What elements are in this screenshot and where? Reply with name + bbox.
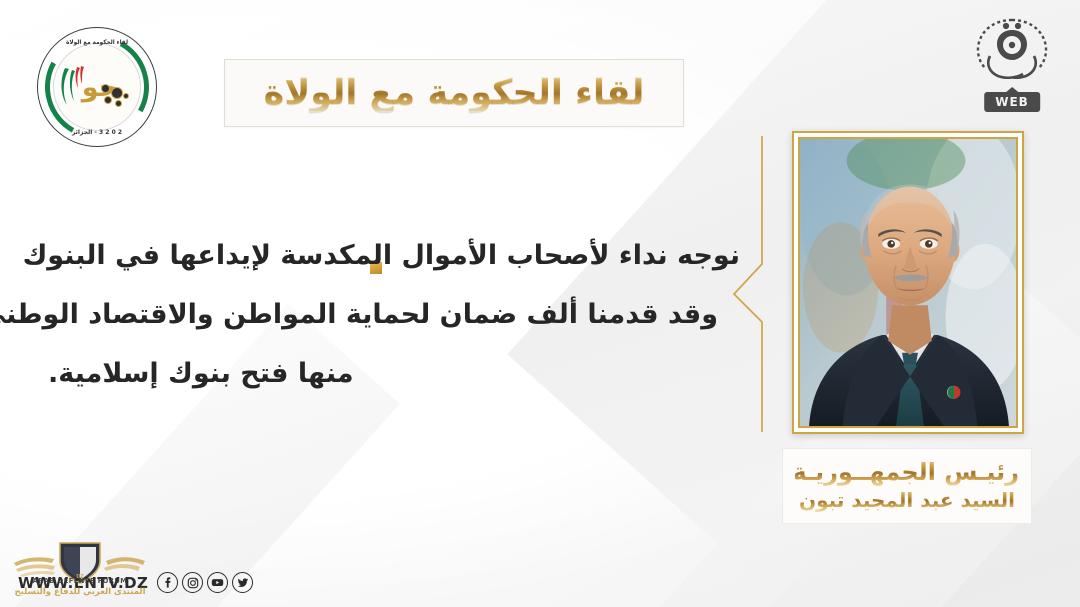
quote-block: نوجه نداء لأصحاب الأموال المكدسة لإيداعه… — [48, 242, 740, 387]
caption-box: رئيـس الجمهــوريـة السيد عبد المجيد تبون — [782, 448, 1032, 524]
portrait-image — [800, 139, 1016, 426]
twitter-icon[interactable] — [232, 572, 253, 593]
logo-arc-text-top: لقاء الحكومة مع الولاة — [42, 39, 152, 46]
page-title: لقاء الحكومة مع الولاة — [264, 76, 645, 111]
logo-gears-icon — [99, 83, 133, 113]
quote-line-3: منها فتح بنوك إسلامية. — [48, 360, 740, 387]
entv-mark-icon — [966, 12, 1058, 86]
youtube-icon[interactable] — [207, 572, 228, 593]
event-logo: لقاء الحكومة مع الولاة 2 0 2 3 - الجزائر… — [37, 27, 157, 147]
quote-line-1: نوجه نداء لأصحاب الأموال المكدسة لإيداعه… — [48, 242, 740, 269]
entv-logo: WEB — [966, 12, 1058, 112]
instagram-icon[interactable] — [182, 572, 203, 593]
title-banner: لقاء الحكومة مع الولاة — [224, 59, 684, 127]
facebook-icon[interactable] — [157, 572, 178, 593]
web-badge: WEB — [984, 92, 1040, 112]
poster-canvas: لقاء الحكومة مع الولاة 2 0 2 3 - الجزائر… — [0, 0, 1080, 607]
site-url[interactable]: WWW.ENTV.DZ — [18, 574, 148, 592]
caption-name: السيد عبد المجيد تبون — [795, 488, 1019, 514]
president-portrait — [798, 137, 1018, 428]
logo-arc-text-bottom: 2 0 2 3 - الجزائر — [37, 129, 157, 136]
social-links — [157, 572, 253, 593]
footer-bar: WWW.ENTV.DZ — [18, 572, 253, 593]
caption-role: رئيـس الجمهــوريـة — [795, 457, 1019, 488]
quote-line-2: وقد قدمنا ألف ضمان لحماية المواطن والاقت… — [48, 301, 718, 328]
president-portrait-frame — [792, 131, 1024, 434]
